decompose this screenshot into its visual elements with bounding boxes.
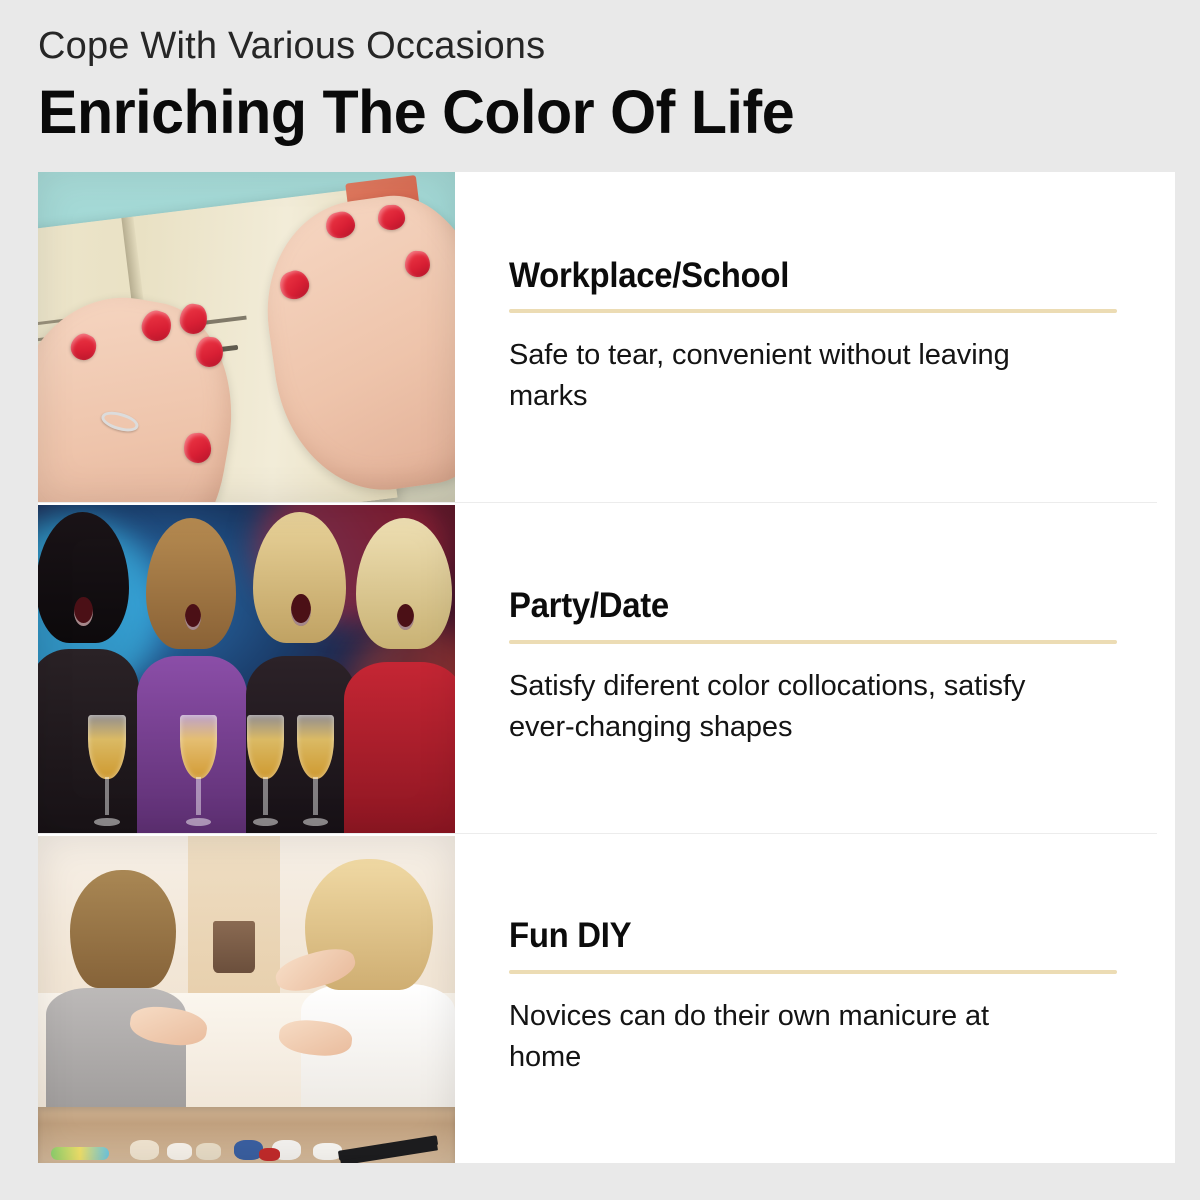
feature-content-party: Party/Date Satisfy diferent color colloc… <box>455 502 1175 832</box>
feature-title: Fun DIY <box>509 917 1081 956</box>
feature-title: Party/Date <box>509 587 1081 626</box>
feature-row: Workplace/School Safe to tear, convenien… <box>38 172 1157 502</box>
feature-description: Satisfy diferent color collocations, sat… <box>509 666 1069 748</box>
page-header: Cope With Various Occasions Enriching Th… <box>38 26 1148 146</box>
header-eyebrow: Cope With Various Occasions <box>38 26 1148 68</box>
feature-panel: Workplace/School Safe to tear, convenien… <box>38 172 1157 1163</box>
feature-photo-diy <box>38 836 455 1163</box>
feature-description: Novices can do their own manicure at hom… <box>509 996 1069 1078</box>
feature-photo-workplace <box>38 172 455 502</box>
feature-divider-rule <box>509 970 1117 974</box>
feature-row: Fun DIY Novices can do their own manicur… <box>38 833 1157 1163</box>
feature-photo-party <box>38 505 455 832</box>
feature-divider-rule <box>509 640 1117 644</box>
product-feature-page: Cope With Various Occasions Enriching Th… <box>0 0 1200 1200</box>
feature-description: Safe to tear, convenient without leaving… <box>509 335 1069 417</box>
feature-divider-rule <box>509 309 1117 313</box>
feature-content-diy: Fun DIY Novices can do their own manicur… <box>455 833 1175 1163</box>
feature-row: Party/Date Satisfy diferent color colloc… <box>38 502 1157 832</box>
page-title: Enriching The Color Of Life <box>38 78 1115 146</box>
feature-content-workplace: Workplace/School Safe to tear, convenien… <box>455 172 1175 502</box>
feature-title: Workplace/School <box>509 257 1081 296</box>
